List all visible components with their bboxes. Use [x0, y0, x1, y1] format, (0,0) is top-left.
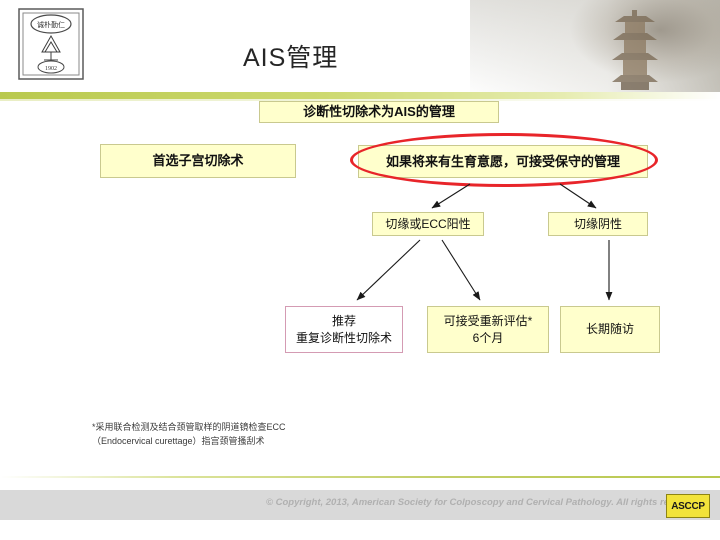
flow-box-margin-positive: 切缘或ECC阳性 [372, 212, 484, 236]
arrow-fertility-to-margin-positive [432, 184, 470, 208]
flow-box-reassess: 可接受重新评估* 6个月 [427, 306, 549, 353]
footnote-line-2: （Endocervical curettage）指宫颈管搔刮术 [92, 434, 286, 448]
flow-box-reassess-line1: 可接受重新评估* [444, 313, 533, 329]
svg-text:诚朴勤仁: 诚朴勤仁 [37, 20, 65, 29]
arrow-margin-positive-to-reassess [442, 240, 480, 300]
svg-text:1902: 1902 [45, 66, 57, 72]
flow-box-fertility-sparing: 如果将来有生育意愿，可接受保守的管理 [358, 145, 648, 178]
flow-box-hysterectomy: 首选子宫切除术 [100, 144, 296, 178]
flow-box-long-term-followup: 长期随访 [560, 306, 660, 353]
arrow-margin-positive-to-repeat [357, 240, 420, 300]
flow-box-margin-negative: 切缘阴性 [548, 212, 648, 236]
copyright-text: © Copyright, 2013, American Society for … [266, 497, 702, 508]
page-title: AIS管理 [243, 38, 338, 74]
header-photo-decoration [470, 0, 720, 100]
flow-box-reassess-line2: 6个月 [473, 330, 504, 346]
footnote: *采用联合检测及结合颈管取样的阴道镜检查ECC （Endocervical cu… [92, 420, 286, 449]
flow-box-repeat-excision-line2: 重复诊断性切除术 [296, 330, 392, 346]
flow-box-top: 诊断性切除术为AIS的管理 [259, 101, 499, 123]
slide-canvas: 诚朴勤仁 1902 AIS管理 诊断性切除术为AIS的管理 首选子宫切除术 如果… [0, 0, 720, 540]
pagoda-tower-icon [612, 6, 658, 90]
footer-divider-line [0, 476, 720, 478]
footnote-line-1: *采用联合检测及结合颈管取样的阴道镜检查ECC [92, 420, 286, 434]
flow-box-repeat-excision: 推荐 重复诊断性切除术 [285, 306, 403, 353]
university-seal-logo: 诚朴勤仁 1902 [18, 8, 84, 80]
asccp-logo: ASCCP [666, 494, 710, 518]
flow-box-repeat-excision-line1: 推荐 [332, 313, 356, 329]
header-divider-line [0, 92, 720, 99]
arrow-fertility-to-margin-negative [560, 184, 596, 208]
